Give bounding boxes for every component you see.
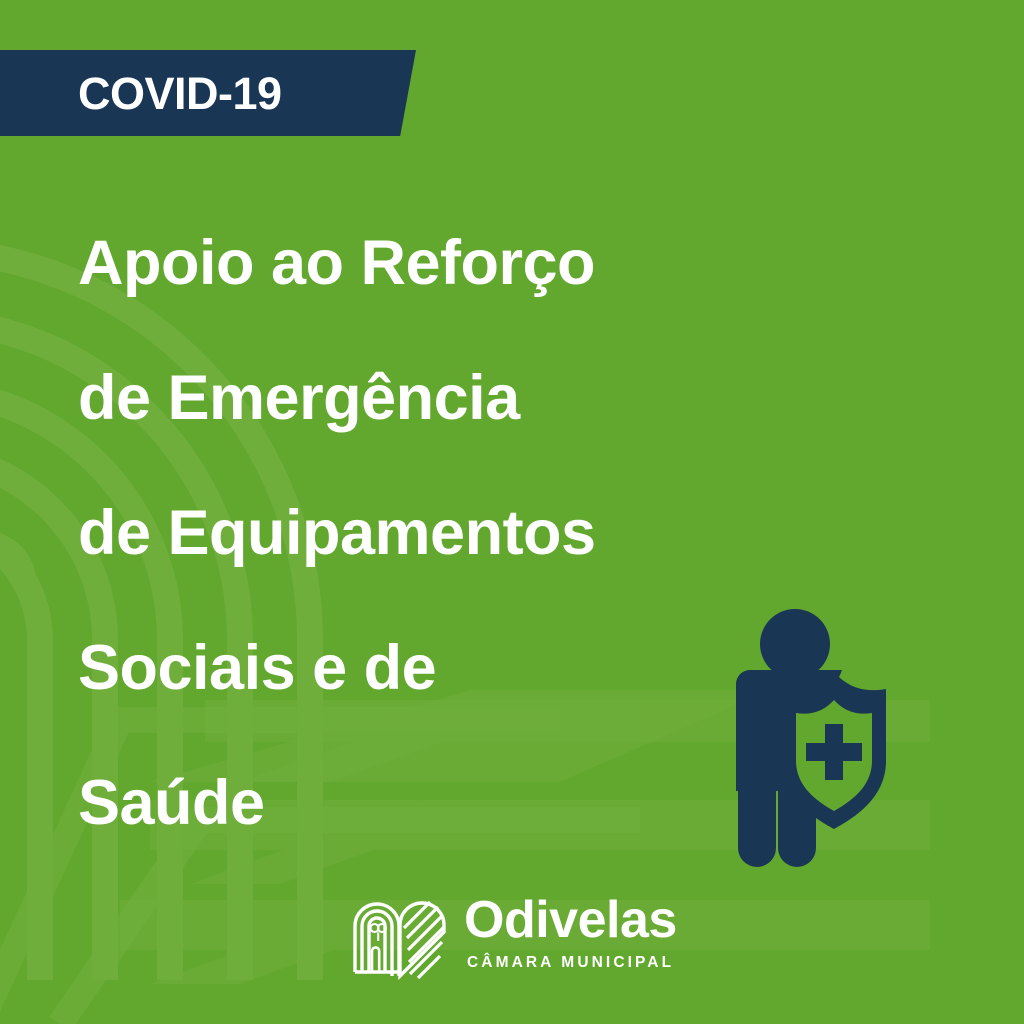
odivelas-logo: Odivelas CÂMARA MUNICIPAL bbox=[352, 888, 677, 980]
headline-line-1: Apoio ao Reforço bbox=[78, 196, 778, 331]
headline-line-4: Sociais e de bbox=[78, 601, 778, 736]
odivelas-logo-text: Odivelas CÂMARA MUNICIPAL bbox=[464, 896, 677, 971]
page-title: Apoio ao Reforço de Emergência de Equipa… bbox=[78, 196, 778, 871]
odivelas-wordmark: Odivelas bbox=[464, 896, 677, 945]
headline-line-3: de Equipamentos bbox=[78, 466, 778, 601]
covid-banner-label: COVID-19 bbox=[78, 71, 282, 116]
covid-banner: COVID-19 bbox=[0, 50, 416, 136]
headline-line-2: de Emergência bbox=[78, 331, 778, 466]
odivelas-subtitle: CÂMARA MUNICIPAL bbox=[467, 954, 677, 972]
odivelas-heart-logo-icon bbox=[352, 888, 448, 980]
poster-canvas: COVID-19 Apoio ao Reforço de Emergência … bbox=[0, 0, 1024, 1024]
headline-line-5: Saúde bbox=[78, 736, 778, 871]
person-holding-shield-icon bbox=[726, 596, 926, 870]
